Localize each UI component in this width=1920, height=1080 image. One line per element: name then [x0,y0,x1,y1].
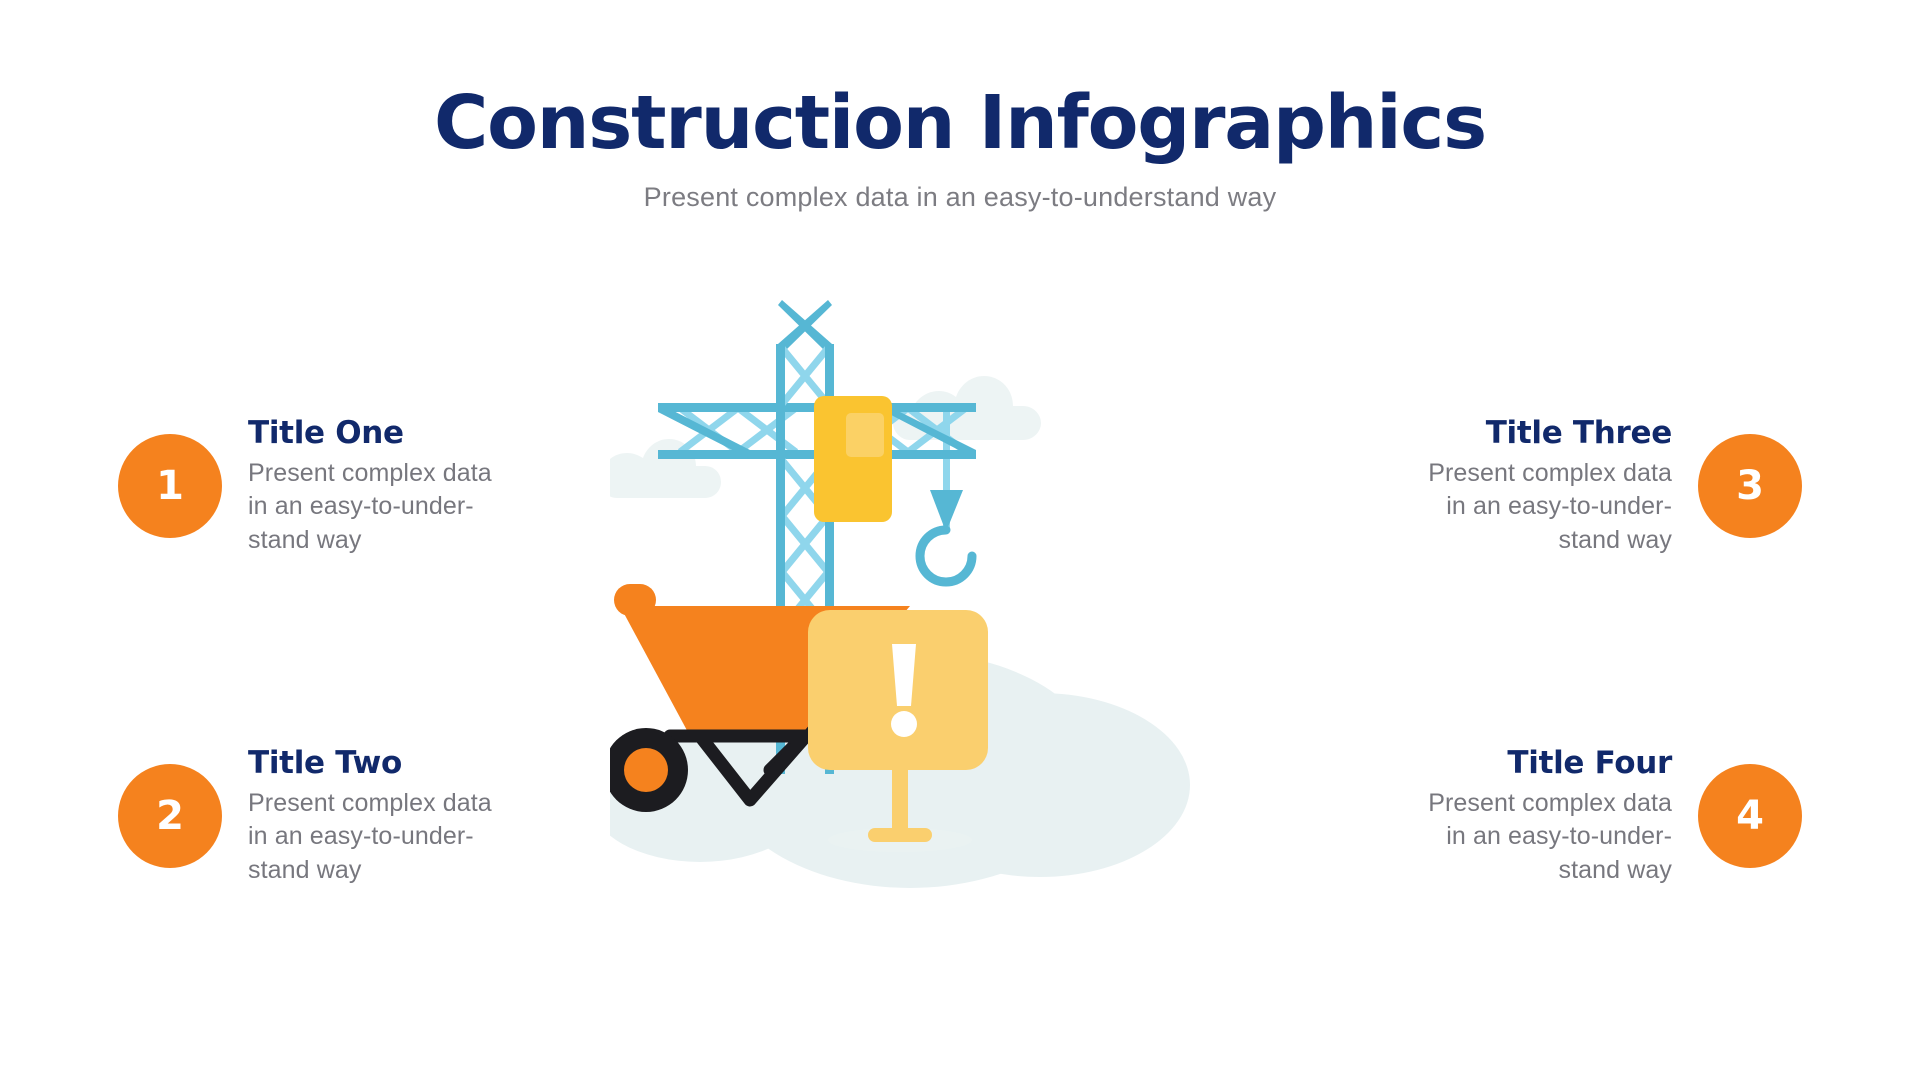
crane-hook-icon [920,490,972,582]
item-1-title: Title One [248,415,598,451]
step-number-badge-4: 4 [1698,764,1802,868]
infographic-item-4[interactable]: 4 Title Four Present complex data in an … [1322,745,1802,887]
step-number-badge-3: 3 [1698,434,1802,538]
infographic-item-1[interactable]: 1 Title One Present complex data in an e… [118,415,598,557]
item-4-text-block: Title Four Present complex data in an ea… [1322,745,1672,887]
item-2-text-block: Title Two Present complex data in an eas… [248,745,598,887]
page-title: Construction Infographics [0,86,1920,160]
item-4-body: Present complex data in an easy-to-under… [1322,787,1672,887]
item-4-title: Title Four [1322,745,1672,781]
slide-canvas: Construction Infographics Present comple… [0,0,1920,1080]
construction-illustration [610,300,1310,1040]
step-number-badge-2: 2 [118,764,222,868]
crane-cab [814,396,892,522]
page-subtitle: Present complex data in an easy-to-under… [0,182,1920,213]
item-2-title: Title Two [248,745,598,781]
item-2-body: Present complex data in an easy-to-under… [248,787,598,887]
header: Construction Infographics Present comple… [0,86,1920,213]
infographic-item-3[interactable]: 3 Title Three Present complex data in an… [1322,415,1802,557]
item-1-text-block: Title One Present complex data in an eas… [248,415,598,557]
item-3-title: Title Three [1322,415,1672,451]
item-3-text-block: Title Three Present complex data in an e… [1322,415,1672,557]
infographic-item-2[interactable]: 2 Title Two Present complex data in an e… [118,745,598,887]
item-1-body: Present complex data in an easy-to-under… [248,457,598,557]
item-3-body: Present complex data in an easy-to-under… [1322,457,1672,557]
step-number-badge-1: 1 [118,434,222,538]
